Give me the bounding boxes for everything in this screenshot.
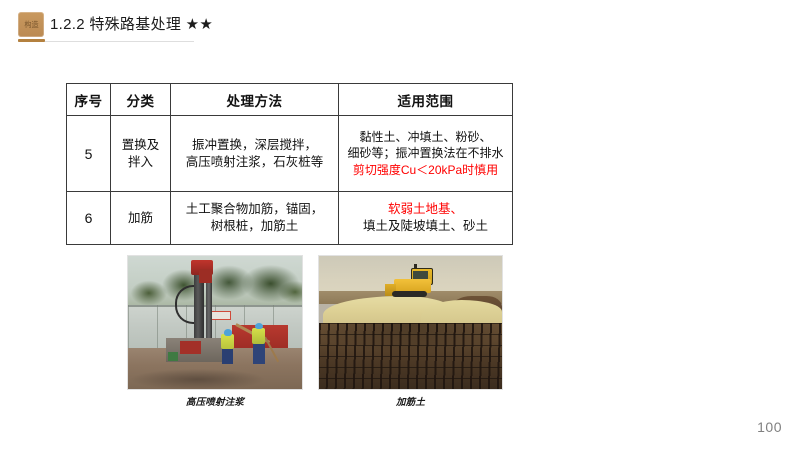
figures-section: 高压喷射注浆 加筋土 <box>0 255 800 405</box>
row-5-category: 置换及 拌入 <box>111 116 171 192</box>
column-header-category: 分类 <box>111 84 171 116</box>
table-row: 6 加筋 土工聚合物加筋，锚固， 树根桩，加筋土 软弱土地基、 填土及陡坡填土、… <box>67 192 513 245</box>
column-header-method: 处理方法 <box>171 84 339 116</box>
row-6-method-line-1: 土工聚合物加筋，锚固， <box>174 201 335 218</box>
photo-reinforced-soil <box>318 255 503 390</box>
header-accent-underline <box>18 39 45 42</box>
slide-header: 构造 1.2.2 特殊路基处理 ★★ <box>0 0 800 46</box>
row-5-method: 振冲置换，深层搅拌， 高压喷射注浆，石灰桩等 <box>171 116 339 192</box>
photo-geogrid-shading <box>319 323 502 390</box>
row-5-category-line-2: 拌入 <box>114 154 167 171</box>
photo-jet-grouting <box>127 255 303 390</box>
figure-caption-reinforced-soil: 加筋土 <box>318 394 503 408</box>
row-6-scope-line-2: 填土及陡坡填土、砂土 <box>342 218 509 235</box>
figure-jet-grouting: 高压喷射注浆 <box>127 255 303 408</box>
photo-drill-head-lower <box>199 269 211 282</box>
photo-worker-1-helmet <box>224 329 232 336</box>
photo-wet-ground <box>128 365 302 389</box>
table-row: 5 置换及 拌入 振冲置换，深层搅拌， 高压喷射注浆，石灰桩等 黏性土、冲填土、… <box>67 116 513 192</box>
chapter-badge-icon: 构造 <box>18 12 44 37</box>
photo-worker-1-vest <box>221 334 234 349</box>
row-6-scope: 软弱土地基、 填土及陡坡填土、砂土 <box>339 192 513 245</box>
row-6-category-line-1: 加筋 <box>114 210 167 227</box>
row-5-scope-line-3-warning: 剪切强度Cu＜20kPa时慎用 <box>342 162 509 179</box>
row-6-method: 土工聚合物加筋，锚固， 树根桩，加筋土 <box>171 192 339 245</box>
photo-worker-2-vest <box>252 328 265 344</box>
figure-reinforced-soil: 加筋土 <box>318 255 503 408</box>
photo-worker-2-legs <box>253 342 264 363</box>
photo-rig-base-green-part <box>168 352 178 361</box>
treatment-methods-table-wrapper: 序号 分类 处理方法 适用范围 5 置换及 拌入 振冲置换，深层搅拌， 高压喷射… <box>66 83 512 245</box>
row-5-no: 5 <box>67 116 111 192</box>
row-6-category: 加筋 <box>111 192 171 245</box>
photo-trees <box>128 256 302 309</box>
table-header-row: 序号 分类 处理方法 适用范围 <box>67 84 513 116</box>
page-number: 100 <box>757 419 782 435</box>
row-5-scope-line-1: 黏性土、冲填土、粉砂、 <box>342 129 509 146</box>
photo-rig-base-red-part <box>180 341 201 354</box>
row-5-category-line-1: 置换及 <box>114 137 167 154</box>
row-5-method-line-1: 振冲置换，深层搅拌， <box>174 137 335 154</box>
row-6-scope-line-1-highlight: 软弱土地基、 <box>342 201 509 218</box>
column-header-no: 序号 <box>67 84 111 116</box>
figure-caption-jet-grouting: 高压喷射注浆 <box>127 394 303 408</box>
photo-worker-1-legs <box>222 348 233 364</box>
row-6-no: 6 <box>67 192 111 245</box>
page-title: 1.2.2 特殊路基处理 ★★ <box>50 14 213 36</box>
row-5-scope-line-2: 细砂等；振冲置换法在不排水 <box>342 145 509 162</box>
chapter-badge-label: 构造 <box>24 21 38 29</box>
photo-worker-2-helmet <box>255 323 263 330</box>
treatment-methods-table: 序号 分类 处理方法 适用范围 5 置换及 拌入 振冲置换，深层搅拌， 高压喷射… <box>66 83 513 245</box>
row-5-scope: 黏性土、冲填土、粉砂、 细砂等；振冲置换法在不排水 剪切强度Cu＜20kPa时慎… <box>339 116 513 192</box>
photo-bulldozer-track <box>392 291 427 298</box>
row-6-method-line-2: 树根桩，加筋土 <box>174 218 335 235</box>
row-5-method-line-2: 高压喷射注浆，石灰桩等 <box>174 154 335 171</box>
column-header-scope: 适用范围 <box>339 84 513 116</box>
